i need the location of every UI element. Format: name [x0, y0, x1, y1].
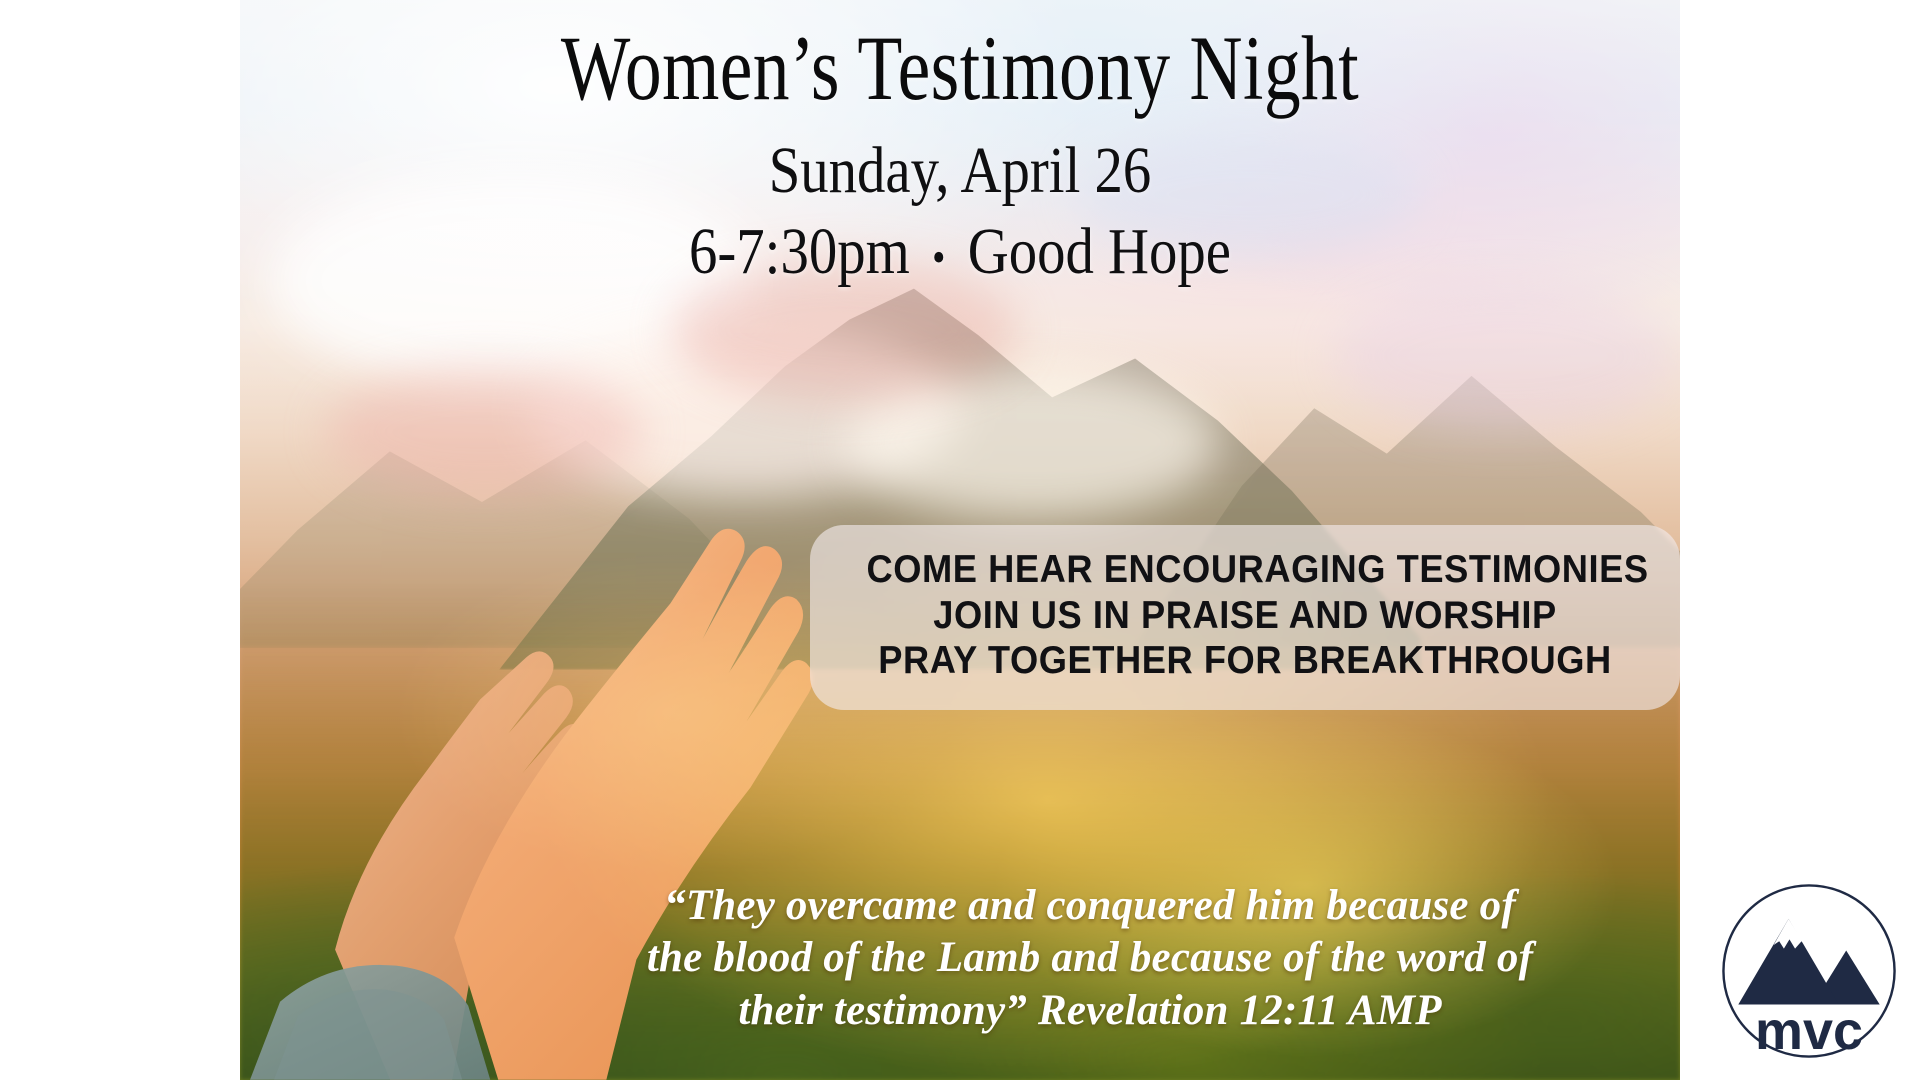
- scripture-line: the blood of the Lamb and because of the…: [560, 932, 1620, 984]
- scripture-line: “They overcame and conquered him because…: [560, 880, 1620, 932]
- event-title: Women’s Testimony Night: [384, 22, 1536, 114]
- scripture-quote: “They overcame and conquered him because…: [560, 880, 1620, 1037]
- separator-dot-icon: •: [910, 235, 968, 281]
- highlight-line: PRAY TOGETHER FOR BREAKTHROUGH: [866, 638, 1623, 684]
- highlight-line: COME HEAR ENCOURAGING TESTIMONIES: [866, 547, 1623, 593]
- headline-block: Women’s Testimony Night Sunday, April 26…: [240, 22, 1680, 287]
- mvc-logo: mvc: [1716, 878, 1902, 1064]
- event-date: Sunday, April 26: [341, 136, 1579, 205]
- slide-stage: Women’s Testimony Night Sunday, April 26…: [0, 0, 1920, 1080]
- highlights-panel: COME HEAR ENCOURAGING TESTIMONIES JOIN U…: [810, 525, 1680, 710]
- logo-wordmark: mvc: [1755, 1001, 1863, 1061]
- scripture-line: their testimony” Revelation 12:11 AMP: [560, 985, 1620, 1037]
- highlight-line: JOIN US IN PRAISE AND WORSHIP: [866, 593, 1623, 639]
- event-time-location: 6-7:30pm•Good Hope: [341, 217, 1579, 286]
- event-location: Good Hope: [968, 215, 1231, 288]
- event-time: 6-7:30pm: [689, 215, 910, 288]
- mvc-logo-mark: mvc: [1716, 878, 1902, 1064]
